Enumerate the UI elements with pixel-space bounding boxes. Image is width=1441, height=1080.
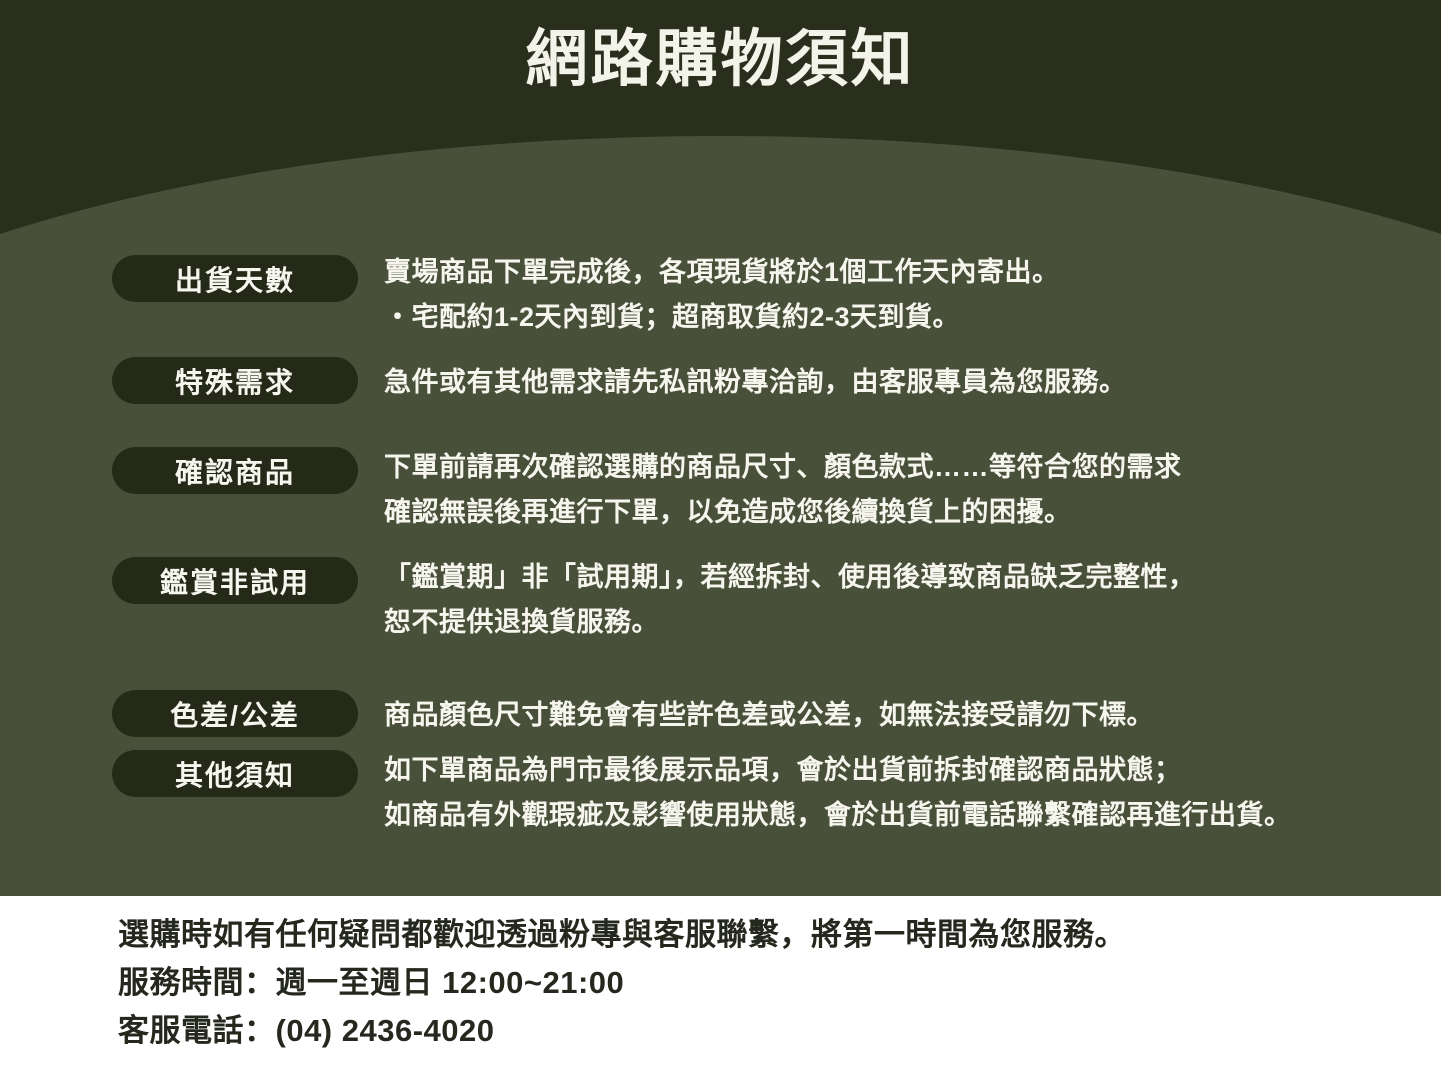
notice-body-text: 「鑑賞期」非「試用期」，若經拆封、使用後導致商品缺乏完整性，恕不提供退換貨服務。 (384, 555, 1196, 645)
footer-line: 客服電話：(04) 2436-4020 (118, 1007, 1126, 1055)
notice-body-line: 確認無誤後再進行下單，以免造成您後續換貨上的困擾。 (384, 490, 1182, 535)
notice-body-text: 如下單商品為門市最後展示品項，會於出貨前拆封確認商品狀態；如商品有外觀瑕疵及影響… (384, 748, 1292, 838)
notice-body-text: 急件或有其他需求請先私訊粉專洽詢，由客服專員為您服務。 (384, 360, 1127, 405)
banner-background: 網路購物須知 出貨天數賣場商品下單完成後，各項現貨將於1個工作天內寄出。・宅配約… (0, 0, 1441, 896)
notice-body-line: 「鑑賞期」非「試用期」，若經拆封、使用後導致商品缺乏完整性， (384, 555, 1196, 600)
notice-label-pill: 色差/公差 (112, 690, 358, 737)
notice-body-text: 賣場商品下單完成後，各項現貨將於1個工作天內寄出。・宅配約1-2天內到貨；超商取… (384, 250, 1060, 340)
footer-line: 選購時如有任何疑問都歡迎透過粉專與客服聯繫，將第一時間為您服務。 (118, 911, 1126, 959)
notice-body-line: 如下單商品為門市最後展示品項，會於出貨前拆封確認商品狀態； (384, 748, 1292, 793)
footer-text: 選購時如有任何疑問都歡迎透過粉專與客服聯繫，將第一時間為您服務。服務時間：週一至… (118, 911, 1126, 1055)
footer-contact-block: 選購時如有任何疑問都歡迎透過粉專與客服聯繫，將第一時間為您服務。服務時間：週一至… (0, 896, 1441, 1080)
notice-label-pill: 特殊需求 (112, 357, 358, 404)
notice-body-text: 下單前請再次確認選購的商品尺寸、顏色款式……等符合您的需求確認無誤後再進行下單，… (384, 445, 1182, 535)
shopping-notice-banner: 網路購物須知 出貨天數賣場商品下單完成後，各項現貨將於1個工作天內寄出。・宅配約… (0, 0, 1441, 1080)
notice-body-line: ・宅配約1-2天內到貨；超商取貨約2-3天到貨。 (384, 295, 1060, 340)
footer-line: 服務時間：週一至週日 12:00~21:00 (118, 959, 1126, 1007)
notice-body-line: 如商品有外觀瑕疵及影響使用狀態，會於出貨前電話聯繫確認再進行出貨。 (384, 793, 1292, 838)
notice-body-text: 商品顏色尺寸難免會有些許色差或公差，如無法接受請勿下標。 (384, 693, 1154, 738)
notice-body-line: 恕不提供退換貨服務。 (384, 600, 1196, 645)
notice-body-line: 下單前請再次確認選購的商品尺寸、顏色款式……等符合您的需求 (384, 445, 1182, 490)
notice-label-pill: 出貨天數 (112, 255, 358, 302)
notice-body-line: 商品顏色尺寸難免會有些許色差或公差，如無法接受請勿下標。 (384, 693, 1154, 738)
notice-label-pill: 鑑賞非試用 (112, 557, 358, 604)
notice-section-list: 出貨天數賣場商品下單完成後，各項現貨將於1個工作天內寄出。・宅配約1-2天內到貨… (0, 0, 1441, 896)
notice-body-line: 急件或有其他需求請先私訊粉專洽詢，由客服專員為您服務。 (384, 360, 1127, 405)
notice-body-line: 賣場商品下單完成後，各項現貨將於1個工作天內寄出。 (384, 250, 1060, 295)
notice-label-pill: 其他須知 (112, 750, 358, 797)
notice-label-pill: 確認商品 (112, 447, 358, 494)
